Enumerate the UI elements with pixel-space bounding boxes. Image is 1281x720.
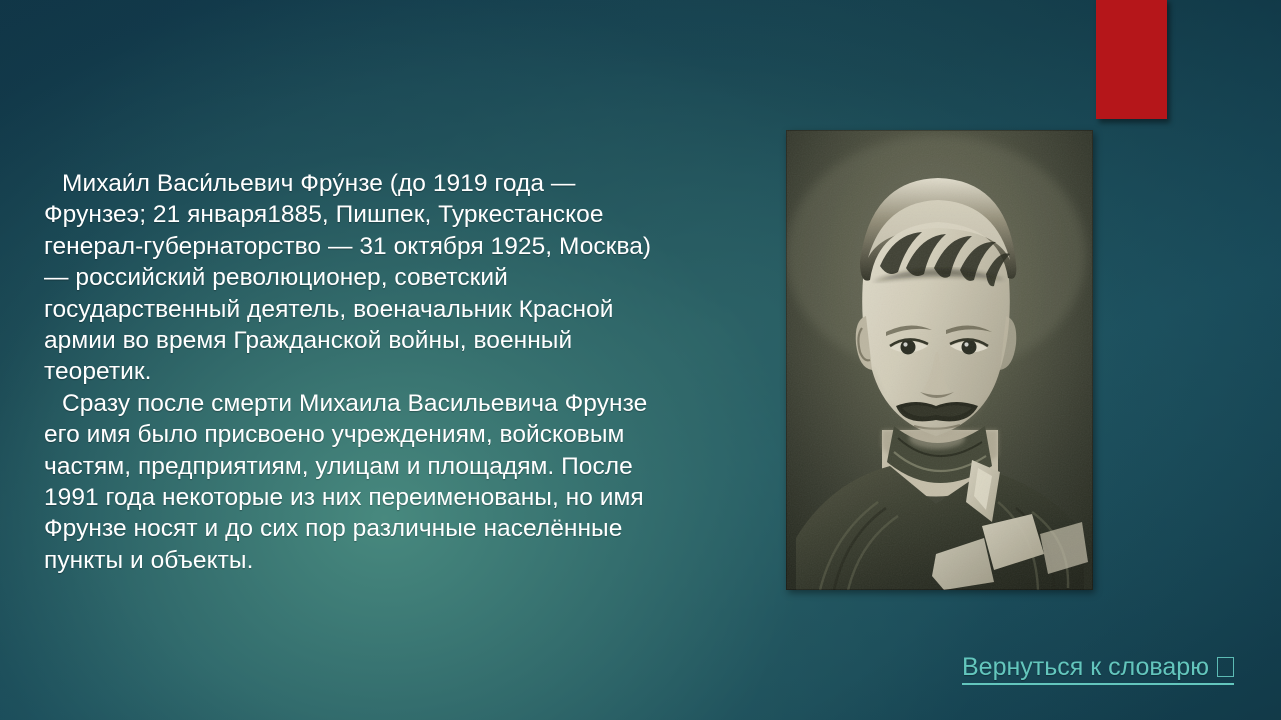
red-accent-rectangle [1096,0,1167,119]
portrait-illustration [786,130,1093,590]
biography-paragraph-1: Михаи́л Васи́льевич Фру́нзе (до 1919 год… [44,168,666,388]
biography-paragraph-2: Сразу после смерти Михаила Васильевича Ф… [44,388,666,576]
return-to-glossary-label: Вернуться к словарю [962,652,1209,682]
missing-glyph-box-icon [1217,657,1234,677]
mikhail-frunze-portrait [786,130,1093,590]
presentation-slide: Михаи́л Васи́льевич Фру́нзе (до 1919 год… [0,0,1281,720]
return-to-glossary-link[interactable]: Вернуться к словарю [962,652,1234,685]
slide-body-text: Михаи́л Васи́льевич Фру́нзе (до 1919 год… [44,168,666,576]
